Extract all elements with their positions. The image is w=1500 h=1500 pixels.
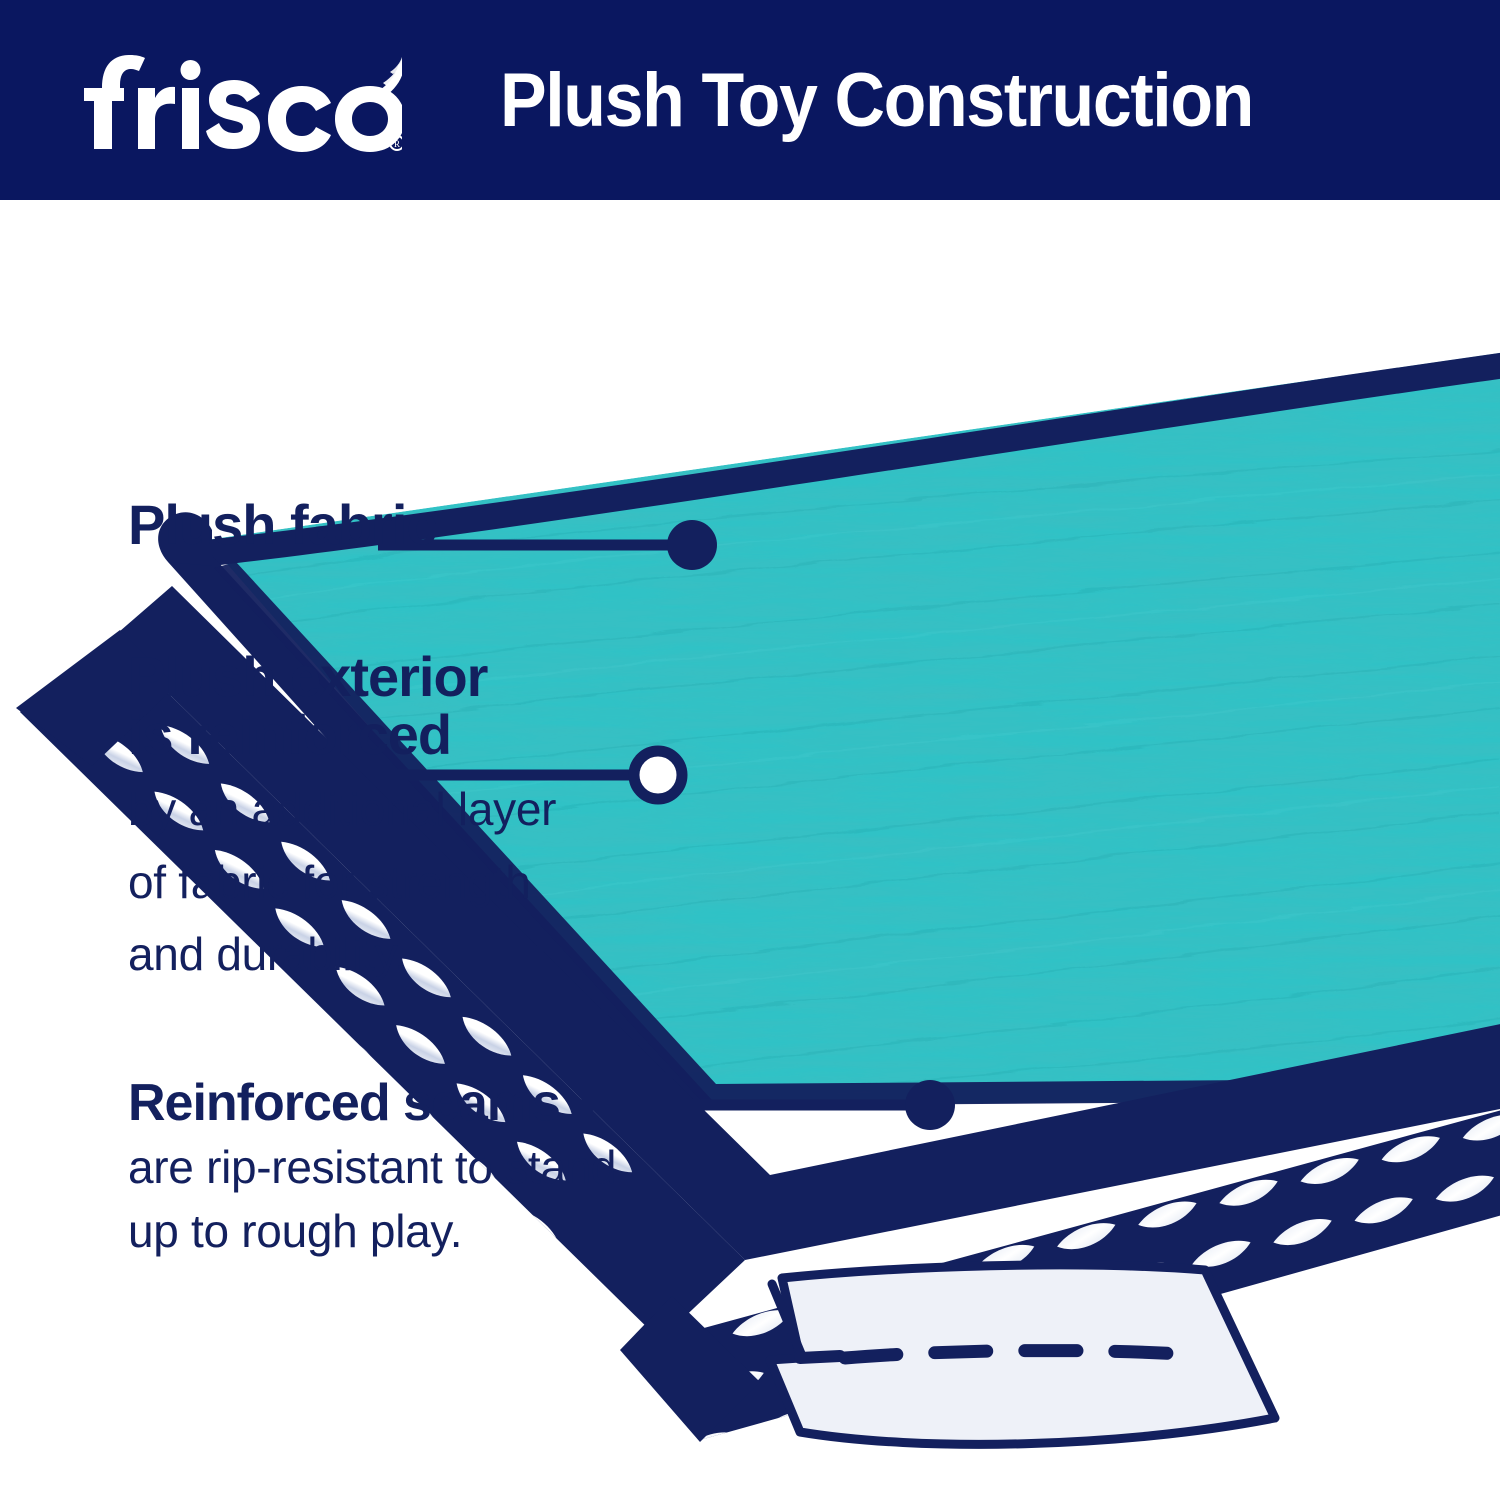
marker-dot-reinforced-seams: [905, 1080, 955, 1130]
label-plush-exterior: Plush exterior is reinforced by an addit…: [128, 648, 556, 981]
label-plush-fabric: Plush fabric: [128, 496, 437, 554]
label-plush-exterior-body-line-1: by an additional layer: [128, 782, 556, 836]
infographic-canvas: R Plush Toy Construction: [0, 0, 1500, 1500]
label-plush-exterior-heading-line-2: is reinforced: [128, 706, 556, 764]
header-bar: R Plush Toy Construction: [0, 0, 1500, 200]
page-title: Plush Toy Construction: [500, 0, 1253, 200]
frisco-logo: R: [72, 42, 402, 152]
label-reinforced-seams-heading: Reinforced seams: [128, 1076, 616, 1130]
marker-ring-plush-exterior: [634, 751, 682, 799]
label-plush-exterior-body-line-2: of fabric for strength: [128, 855, 556, 909]
label-plush-exterior-body-line-3: and durability.: [128, 927, 556, 981]
label-reinforced-seams: Reinforced seams are rip-resistant to st…: [128, 1076, 616, 1259]
label-reinforced-seams-body-line-2: up to rough play.: [128, 1204, 616, 1258]
svg-text:R: R: [394, 139, 400, 149]
label-plush-fabric-heading: Plush fabric: [128, 496, 437, 554]
seam-flap-layer: [770, 1265, 1275, 1444]
label-reinforced-seams-body-line-1: are rip-resistant to stand: [128, 1140, 616, 1194]
label-plush-exterior-heading-line-1: Plush exterior: [128, 648, 556, 706]
marker-dot-plush-fabric: [667, 520, 717, 570]
